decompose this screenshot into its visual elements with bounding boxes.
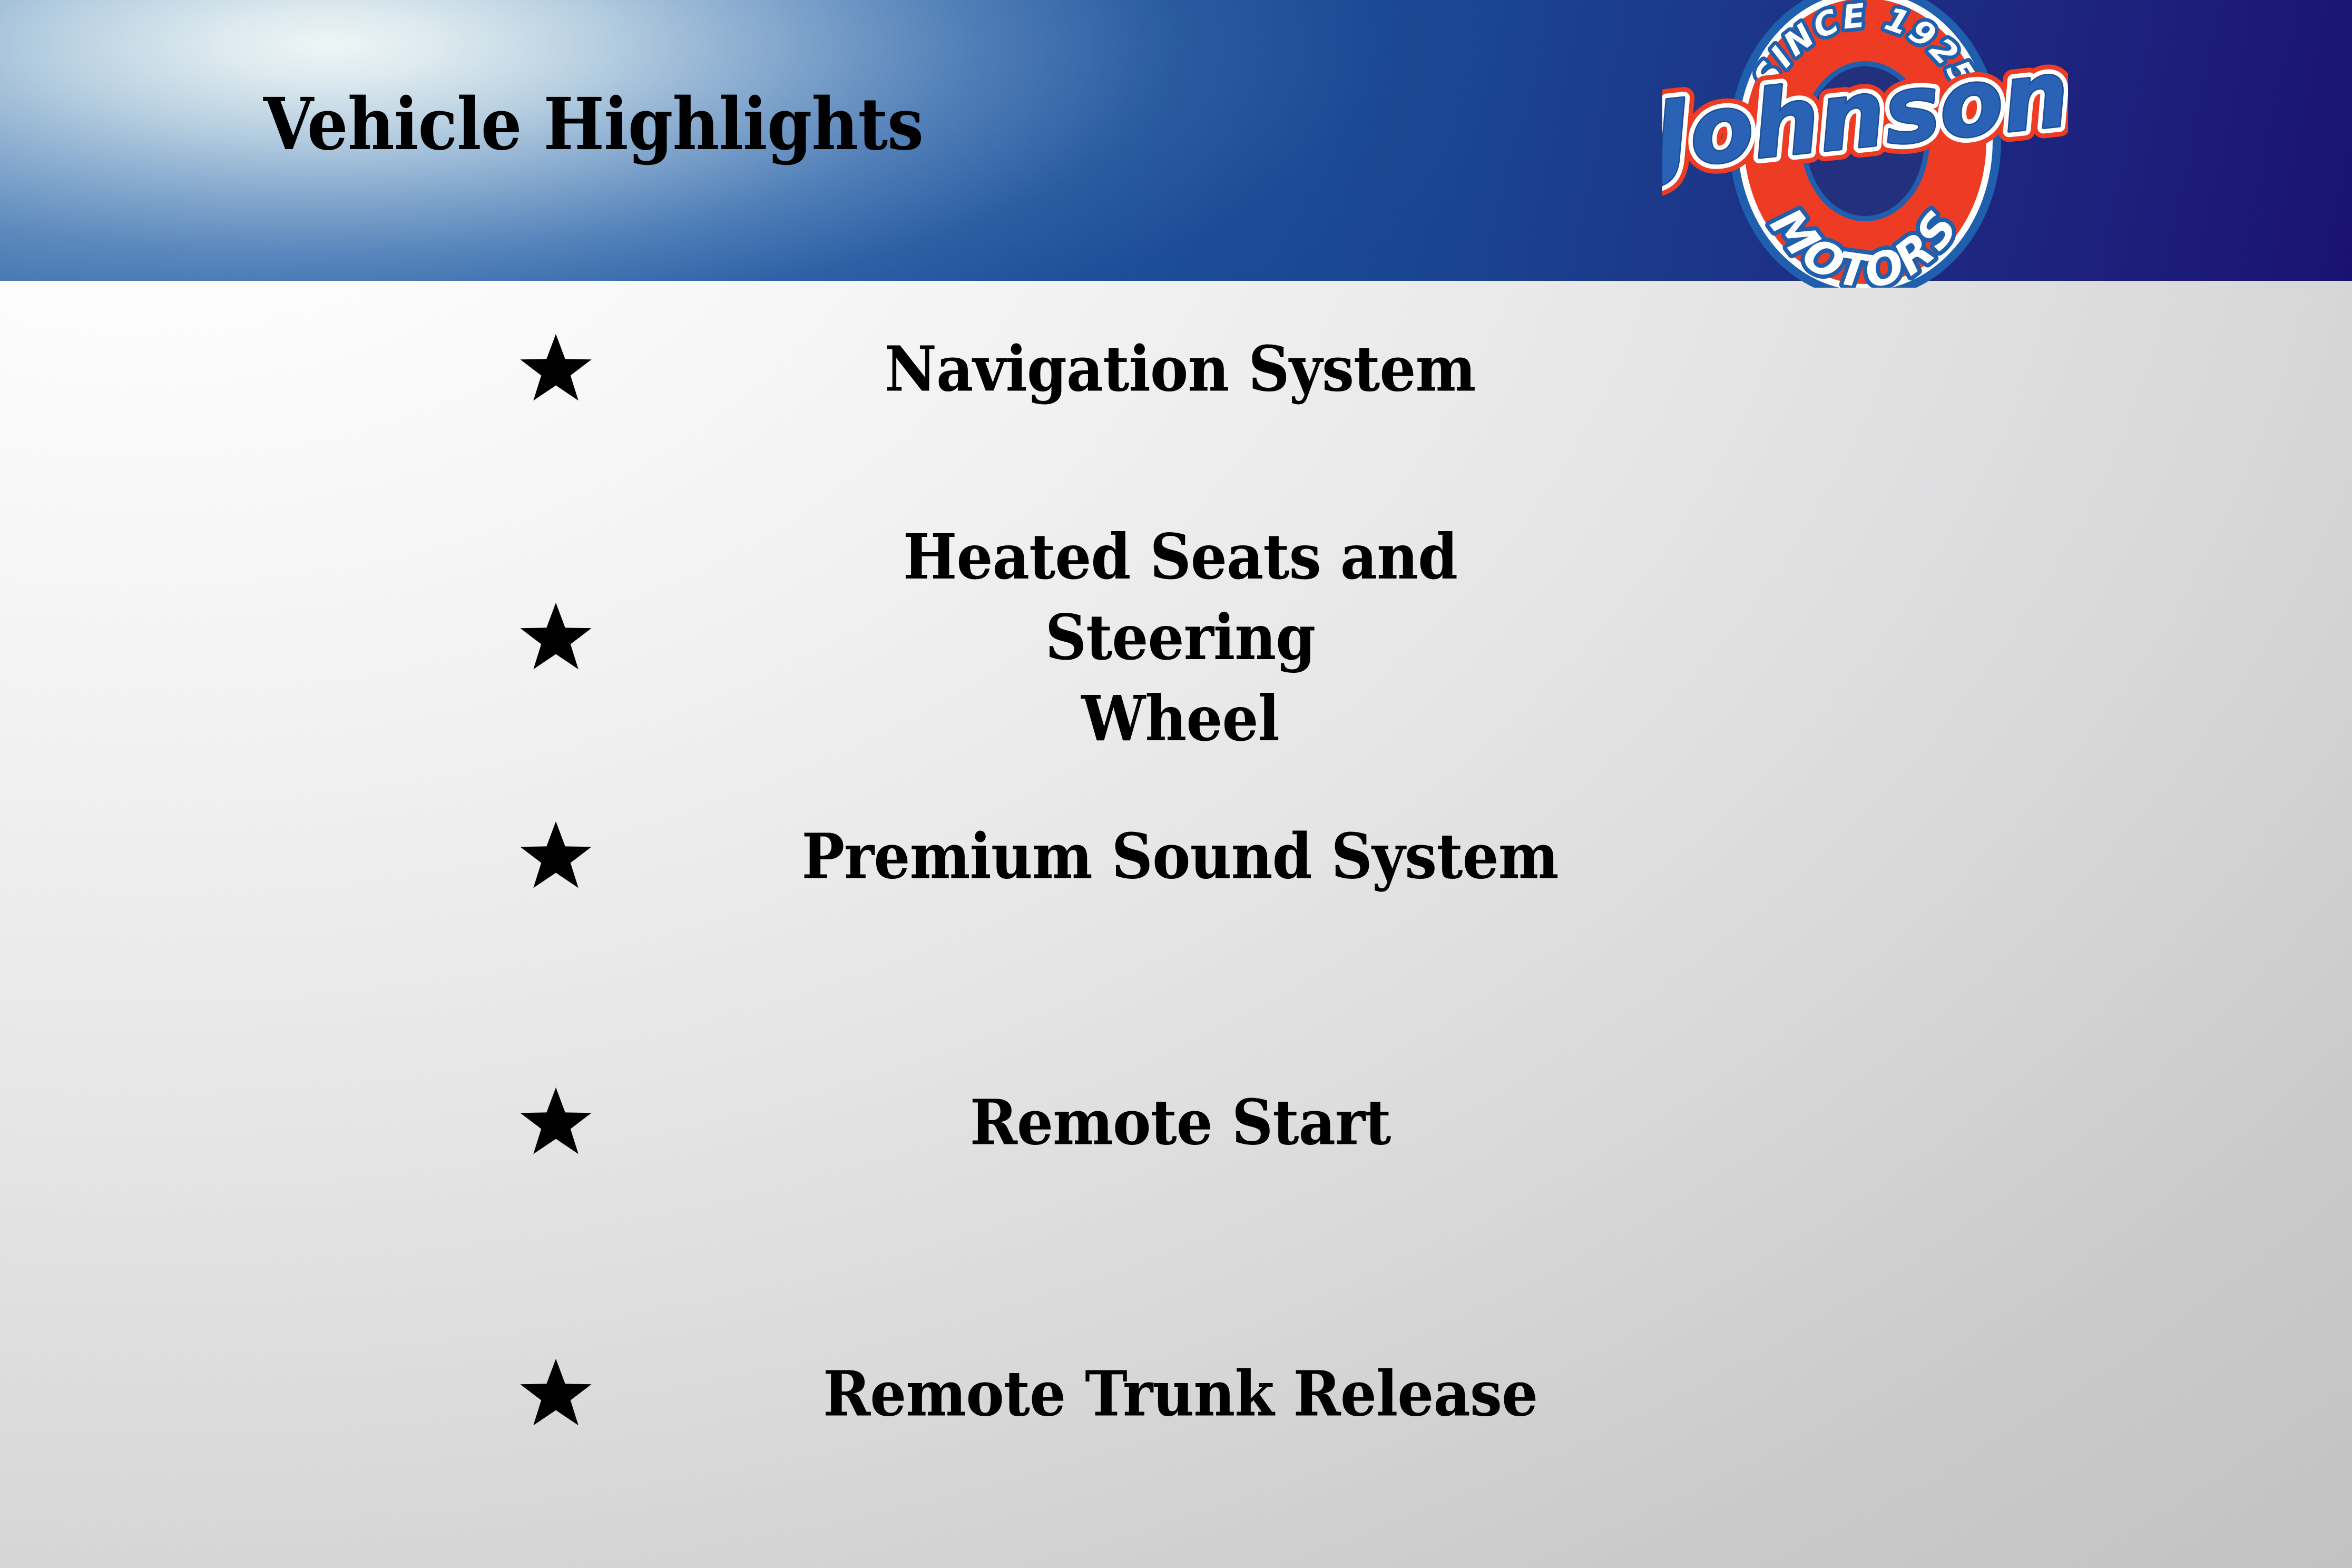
list-item-line: Premium Sound System xyxy=(802,816,1559,896)
list-item-line: Heated Seats and Steering xyxy=(768,516,1592,678)
star-icon xyxy=(516,329,595,408)
list-item-line: Remote Trunk Release xyxy=(823,1353,1537,1434)
list-item-label: Navigation System xyxy=(732,328,1628,409)
star-icon xyxy=(516,1354,595,1433)
list-item-line: Navigation System xyxy=(885,328,1476,409)
johnson-motors-logo: SINCE 1925 SINCE 1925 MOTORS MOTORS John… xyxy=(1662,0,2068,288)
page-title: Vehicle Highlights xyxy=(263,89,923,160)
slide-canvas: Vehicle Highlights SINCE 1925 xyxy=(0,0,2352,1568)
highlights-list: Navigation System Heated Seats and Steer… xyxy=(0,281,2352,1568)
list-item-label: Heated Seats and Steering Wheel xyxy=(732,516,1628,759)
star-icon xyxy=(516,817,595,896)
star-icon xyxy=(516,1083,595,1162)
star-icon xyxy=(516,598,595,677)
list-item-label: Premium Sound System xyxy=(732,816,1628,896)
list-item-line: Wheel xyxy=(1081,678,1279,759)
list-item-label: Remote Trunk Release xyxy=(732,1353,1628,1434)
list-item-line: Remote Start xyxy=(970,1082,1391,1162)
list-item-label: Remote Start xyxy=(732,1082,1628,1162)
